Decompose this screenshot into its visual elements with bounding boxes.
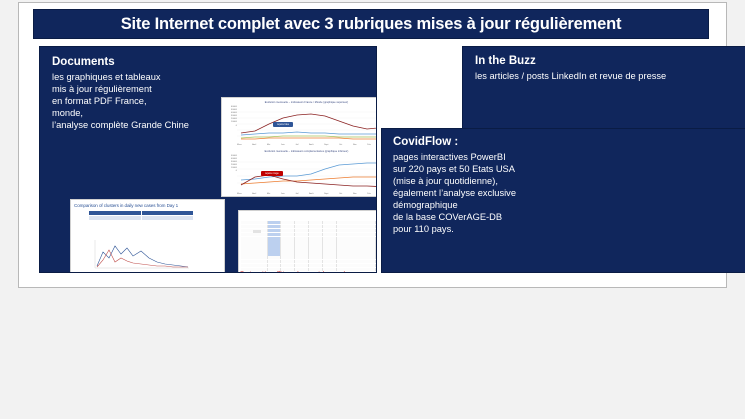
covidflow-heading: CovidFlow : xyxy=(393,136,458,149)
covidflow-line: pour 110 pays. xyxy=(393,223,543,235)
documents-line: monde, xyxy=(52,107,212,119)
linechart-upper-plot xyxy=(237,107,377,141)
linechart-lower-annotation: repère rouge xyxy=(261,171,283,176)
buzz-panel[interactable]: In the Buzz les articles / posts LinkedI… xyxy=(462,46,745,131)
covidflow-line: démographique xyxy=(393,199,543,211)
linechart-lower-xaxis: MarsAvrilMaiJuinJuilAoûtSeptOctNovDécJan… xyxy=(237,193,377,195)
linechart-upper: Evolution mensuelle – indicateurs France… xyxy=(225,100,377,146)
clusters-chart-lower xyxy=(91,272,191,273)
documents-line: les graphiques et tableaux xyxy=(52,71,212,83)
buzz-body: les articles / posts LinkedIn et revue d… xyxy=(475,70,666,82)
clusters-thumbnail[interactable]: Comparison of clusters in daily new case… xyxy=(70,199,225,273)
page-title: Site Internet complet avec 3 rubriques m… xyxy=(121,15,622,34)
documents-body: les graphiques et tableaux mis à jour ré… xyxy=(52,71,212,131)
documents-heading: Documents xyxy=(52,56,115,69)
linechart-lower-yaxis: 50000400003000020000100000 xyxy=(225,155,237,174)
imported-cases-caption: Cas importés en Chine – classement des p… xyxy=(240,271,377,273)
covidflow-line: sur 220 pays et 50 Etats USA xyxy=(393,163,543,175)
linechart-upper-yaxis: 6000050000400003000020000100000 xyxy=(225,106,237,128)
linecharts-thumbnail[interactable]: Evolution mensuelle – indicateurs France… xyxy=(221,97,377,197)
linechart-lower-plot xyxy=(237,156,377,190)
documents-line: en format PDF France, xyxy=(52,95,212,107)
covidflow-line: de la base COVerAGE-DB xyxy=(393,211,543,223)
covidflow-line: pages interactives PowerBI xyxy=(393,151,543,163)
linechart-upper-xaxis: MarsAvrilMaiJuinJuilAoûtSeptOctNovDécJan… xyxy=(237,144,377,146)
covidflow-panel[interactable]: CovidFlow : pages interactives PowerBI s… xyxy=(381,128,745,273)
clusters-title: Comparison of clusters in daily new case… xyxy=(71,203,224,208)
documents-line: mis à jour régulièrement xyxy=(52,83,212,95)
linechart-upper-annotation: repère bleu xyxy=(273,122,293,127)
linechart-lower: Evolution mensuelle – indicateurs complé… xyxy=(225,149,377,195)
clusters-info-table xyxy=(89,211,194,229)
slide-title-bar: Site Internet complet avec 3 rubriques m… xyxy=(33,9,709,39)
covidflow-body: pages interactives PowerBI sur 220 pays … xyxy=(393,151,543,236)
documents-panel[interactable]: Documents les graphiques et tableaux mis… xyxy=(39,46,377,273)
slide-canvas: Site Internet complet avec 3 rubriques m… xyxy=(18,2,727,288)
linechart-lower-title: Evolution mensuelle – indicateurs complé… xyxy=(225,150,377,153)
imported-cases-grid xyxy=(241,221,377,273)
covidflow-line: (mise à jour quotidienne), xyxy=(393,175,543,187)
documents-line: l’analyse complète Grande Chine xyxy=(52,119,212,131)
imported-cases-table-thumbnail[interactable]: ▬▬▬▬▬▬▬▬ Cas importés en Chine – classem… xyxy=(238,210,377,273)
linechart-upper-title: Evolution mensuelle – indicateurs France… xyxy=(225,101,377,104)
clusters-chart-upper xyxy=(91,238,191,270)
covidflow-line: également l’analyse exclusive xyxy=(393,187,543,199)
buzz-heading: In the Buzz xyxy=(475,55,536,68)
